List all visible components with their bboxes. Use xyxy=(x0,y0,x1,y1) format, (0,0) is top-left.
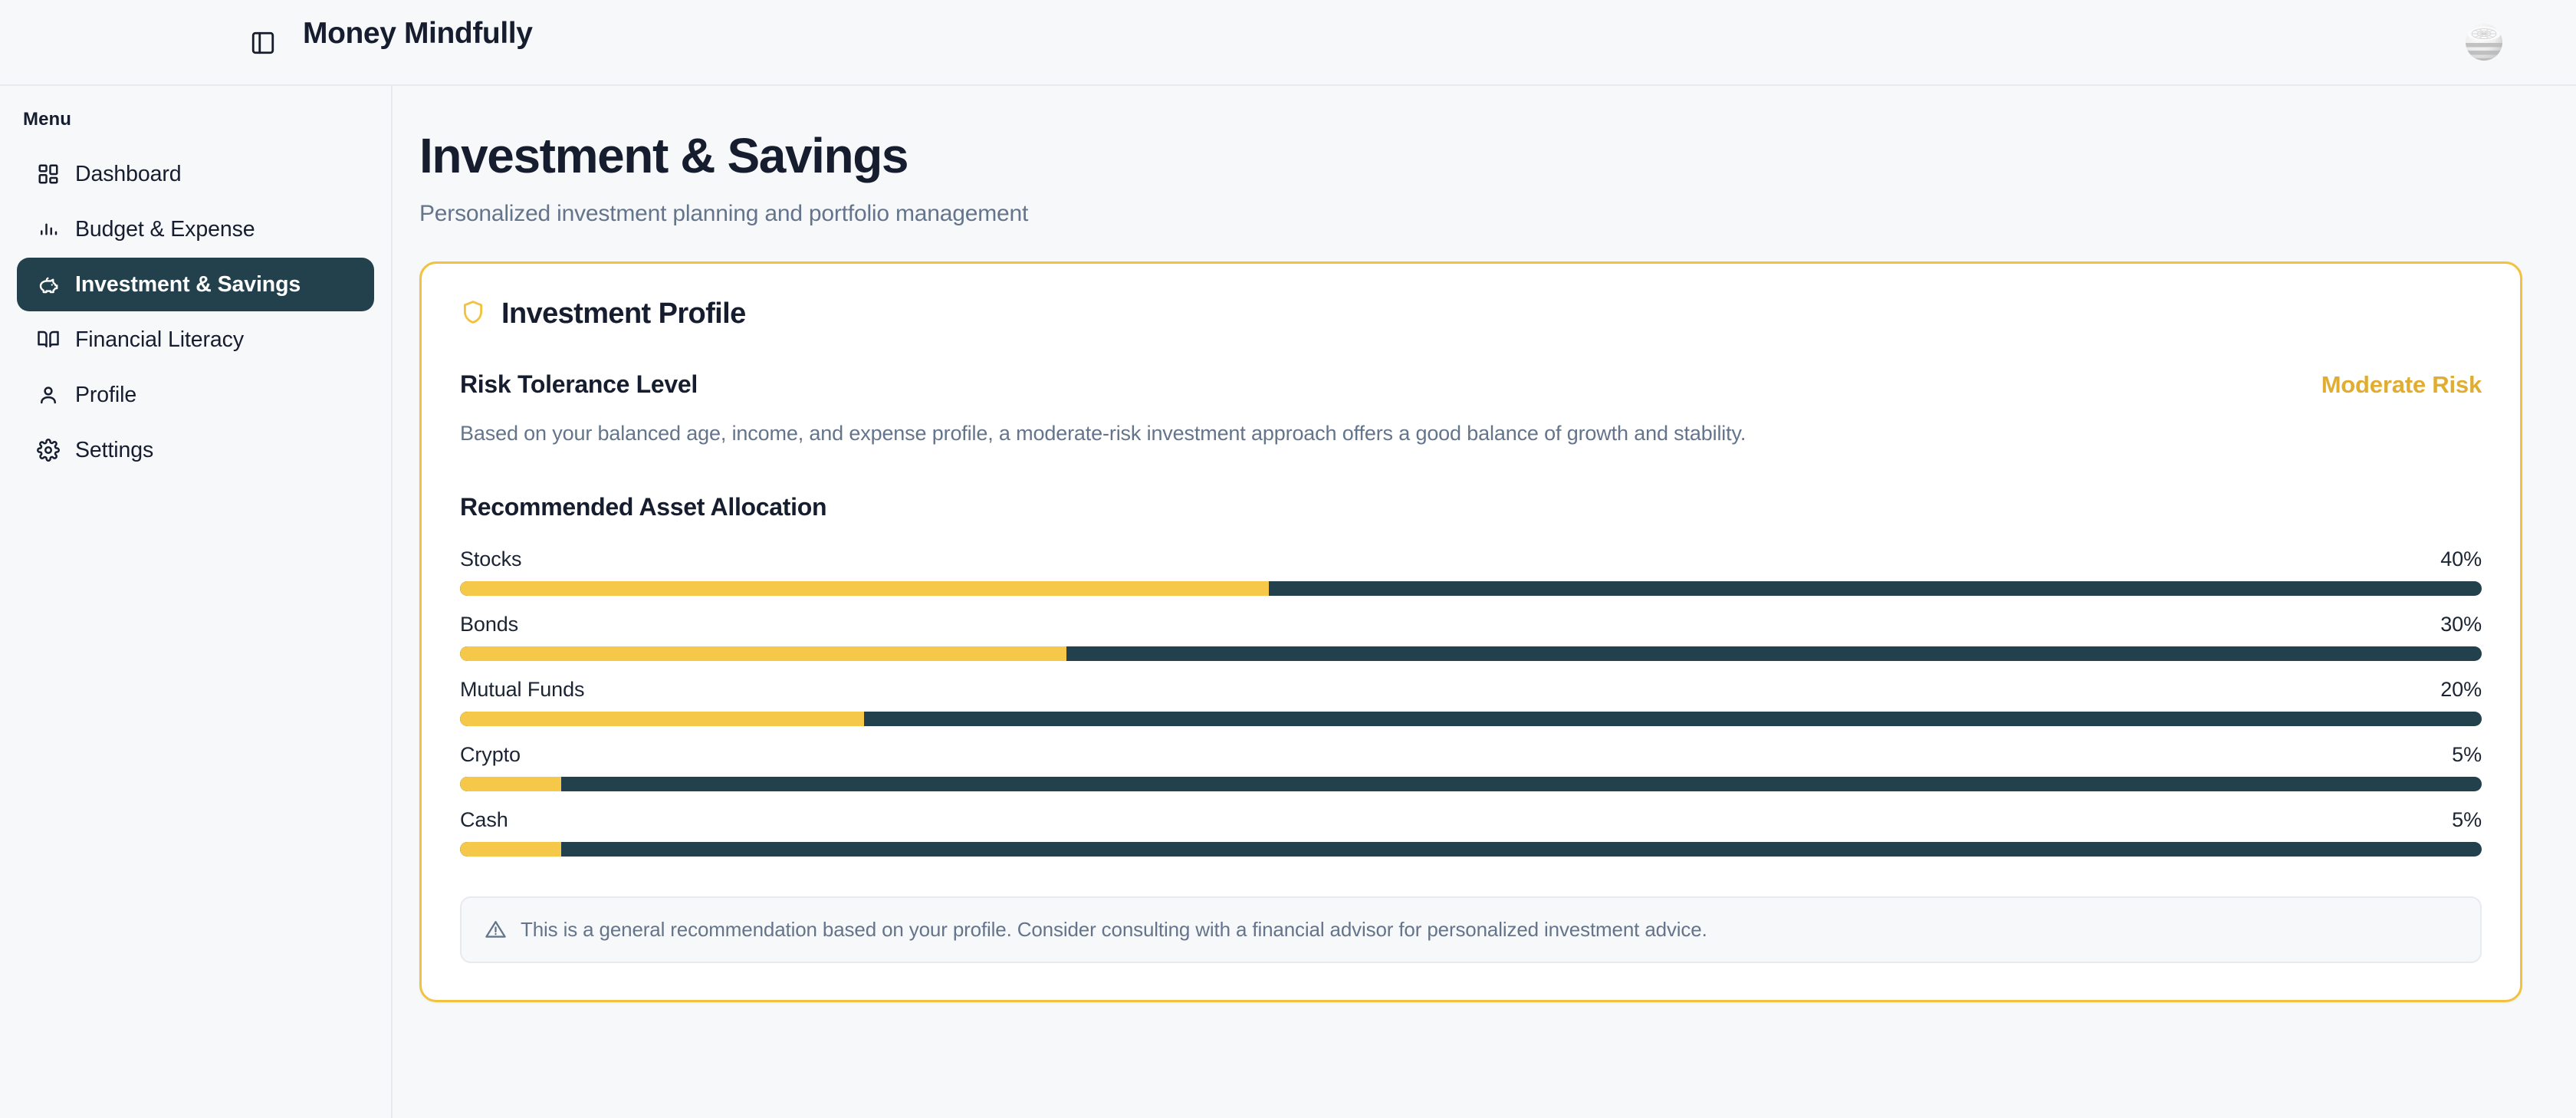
status-badge: Moderate Risk xyxy=(2321,371,2482,399)
allocation-list: Stocks 40% Bonds 30% Mutual Funds xyxy=(460,547,2482,857)
risk-tolerance-label: Risk Tolerance Level xyxy=(460,370,698,399)
book-open-icon xyxy=(34,325,63,354)
risk-description: Based on your balanced age, income, and … xyxy=(460,422,2482,446)
list-item: Mutual Funds 20% xyxy=(460,678,2482,726)
disclaimer-note: This is a general recommendation based o… xyxy=(460,896,2482,963)
asset-percent: 5% xyxy=(2452,808,2482,832)
allocation-bar-track xyxy=(460,777,2482,791)
allocation-bar-fill xyxy=(460,712,864,726)
sidebar-item-investment-savings[interactable]: Investment & Savings xyxy=(17,258,374,311)
list-item: Bonds 30% xyxy=(460,613,2482,661)
sidebar: Menu Dashboard Budget & Expense Inv xyxy=(0,86,393,1118)
asset-percent: 20% xyxy=(2440,678,2482,702)
asset-percent: 30% xyxy=(2440,613,2482,636)
allocation-bar-track xyxy=(460,712,2482,726)
sidebar-item-label: Settings xyxy=(75,438,153,463)
risk-tolerance-row: Risk Tolerance Level Moderate Risk xyxy=(460,370,2482,399)
list-item: Stocks 40% xyxy=(460,547,2482,596)
page-heading: Investment & Savings xyxy=(419,130,2522,182)
sidebar-item-profile[interactable]: Profile xyxy=(17,368,374,422)
user-icon xyxy=(34,380,63,409)
warning-triangle-icon xyxy=(485,919,508,941)
page-subtitle: Personalized investment planning and por… xyxy=(419,201,2522,227)
allocation-bar-track xyxy=(460,842,2482,857)
sidebar-item-financial-literacy[interactable]: Financial Literacy xyxy=(17,313,374,367)
main-content: Investment & Savings Personalized invest… xyxy=(393,86,2576,1118)
sidebar-item-label: Dashboard xyxy=(75,162,182,187)
asset-name: Mutual Funds xyxy=(460,678,584,702)
disclaimer-text: This is a general recommendation based o… xyxy=(521,918,1707,942)
asset-name: Bonds xyxy=(460,613,518,636)
grid-icon xyxy=(34,159,63,189)
card-title: Investment Profile xyxy=(501,298,746,330)
investment-profile-card: Investment Profile Risk Tolerance Level … xyxy=(419,261,2522,1002)
top-bar: Money Mindfully xyxy=(0,0,2576,86)
shield-icon xyxy=(460,299,486,329)
list-item: Crypto 5% xyxy=(460,743,2482,791)
sidebar-item-budget-expense[interactable]: Budget & Expense xyxy=(17,202,374,256)
sidebar-item-label: Profile xyxy=(75,383,136,408)
card-header: Investment Profile xyxy=(460,298,2482,330)
allocation-bar-track xyxy=(460,581,2482,596)
sidebar-item-label: Budget & Expense xyxy=(75,217,255,242)
asset-percent: 40% xyxy=(2440,547,2482,571)
sidebar-item-dashboard[interactable]: Dashboard xyxy=(17,147,374,201)
sidebar-item-label: Financial Literacy xyxy=(75,327,244,353)
list-item: Cash 5% xyxy=(460,808,2482,857)
panel-left-icon[interactable] xyxy=(242,21,284,64)
sidebar-item-label: Investment & Savings xyxy=(75,272,301,298)
piggy-bank-icon xyxy=(34,270,63,299)
sidebar-item-settings[interactable]: Settings xyxy=(17,423,374,477)
allocation-bar-fill xyxy=(460,842,561,857)
allocation-bar-fill xyxy=(460,581,1269,596)
asset-percent: 5% xyxy=(2452,743,2482,767)
asset-name: Stocks xyxy=(460,547,521,571)
asset-name: Cash xyxy=(460,808,508,832)
allocation-bar-fill xyxy=(460,646,1066,661)
allocation-heading: Recommended Asset Allocation xyxy=(460,493,2482,521)
asset-name: Crypto xyxy=(460,743,521,767)
sidebar-menu-label: Menu xyxy=(23,109,391,130)
page-title: Money Mindfully xyxy=(303,17,533,51)
allocation-bar-track xyxy=(460,646,2482,661)
bar-chart-icon xyxy=(34,215,63,244)
allocation-bar-fill xyxy=(460,777,561,791)
avatar[interactable] xyxy=(2459,17,2509,67)
gear-icon xyxy=(34,436,63,465)
